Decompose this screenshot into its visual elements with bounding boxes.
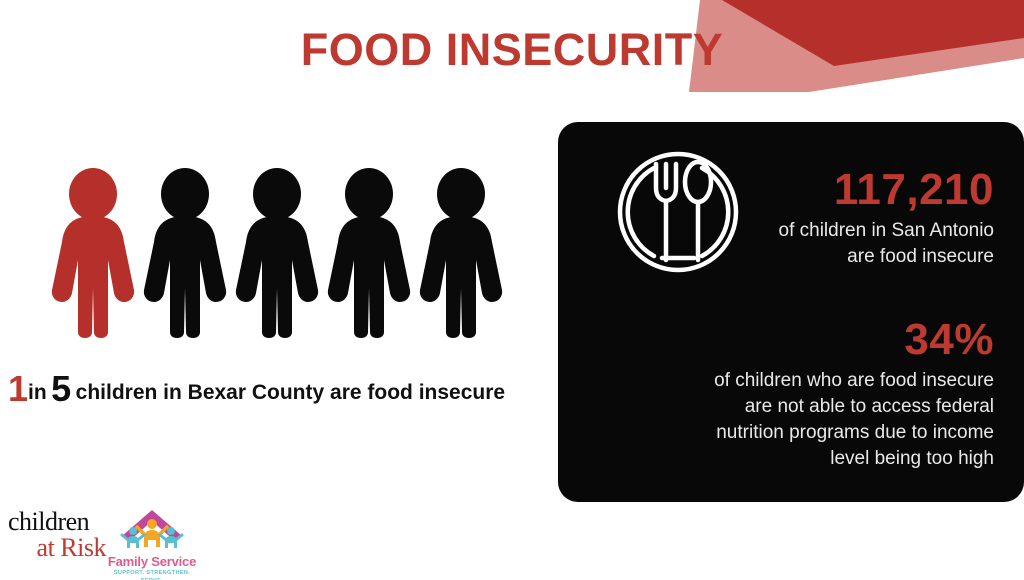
caption-rest: children in Bexar County are food insecu… xyxy=(76,381,505,404)
stat-block-children-count: 117,210 of children in San Antonio are f… xyxy=(724,164,994,270)
car-logo-line1: children xyxy=(8,509,108,535)
plate-fork-spoon-icon xyxy=(614,148,742,276)
person-figure-icon xyxy=(140,168,230,338)
stat-block-percentage: 34% of children who are food insecure ar… xyxy=(664,314,994,472)
stat-description-percentage: of children who are food insecure are no… xyxy=(664,368,994,472)
family-house-icon xyxy=(106,507,198,549)
caption-word-in: in xyxy=(28,381,47,404)
slide-canvas: FOOD INSECURITY xyxy=(0,0,1024,580)
person-figure-icon xyxy=(416,168,506,338)
pictogram-group xyxy=(48,168,518,338)
stat-card: 117,210 of children in San Antonio are f… xyxy=(558,122,1024,502)
logo-group: children at Risk xyxy=(6,505,226,577)
person-figure-icon xyxy=(232,168,322,338)
caption-number-five: 5 xyxy=(51,368,71,409)
caption-number-one: 1 xyxy=(8,368,28,409)
stat-description-children-count: of children in San Antonio are food inse… xyxy=(724,218,994,270)
family-service-tagline: SUPPORT. STRENGTHEN. SERVE. xyxy=(106,569,198,580)
car-logo-line2: at Risk xyxy=(8,535,108,561)
person-figure-icon xyxy=(48,168,138,338)
page-title: FOOD INSECURITY xyxy=(0,24,1024,76)
family-service-name: Family Service xyxy=(106,555,198,569)
family-service-logo: Family Service SUPPORT. STRENGTHEN. SERV… xyxy=(106,507,198,580)
person-figure-icon xyxy=(324,168,414,338)
pictogram-caption: 1in 5 children in Bexar County are food … xyxy=(8,368,548,410)
children-at-risk-logo: children at Risk xyxy=(8,509,108,561)
stat-value-117210: 117,210 xyxy=(724,164,994,216)
stat-value-34-percent: 34% xyxy=(664,314,994,366)
